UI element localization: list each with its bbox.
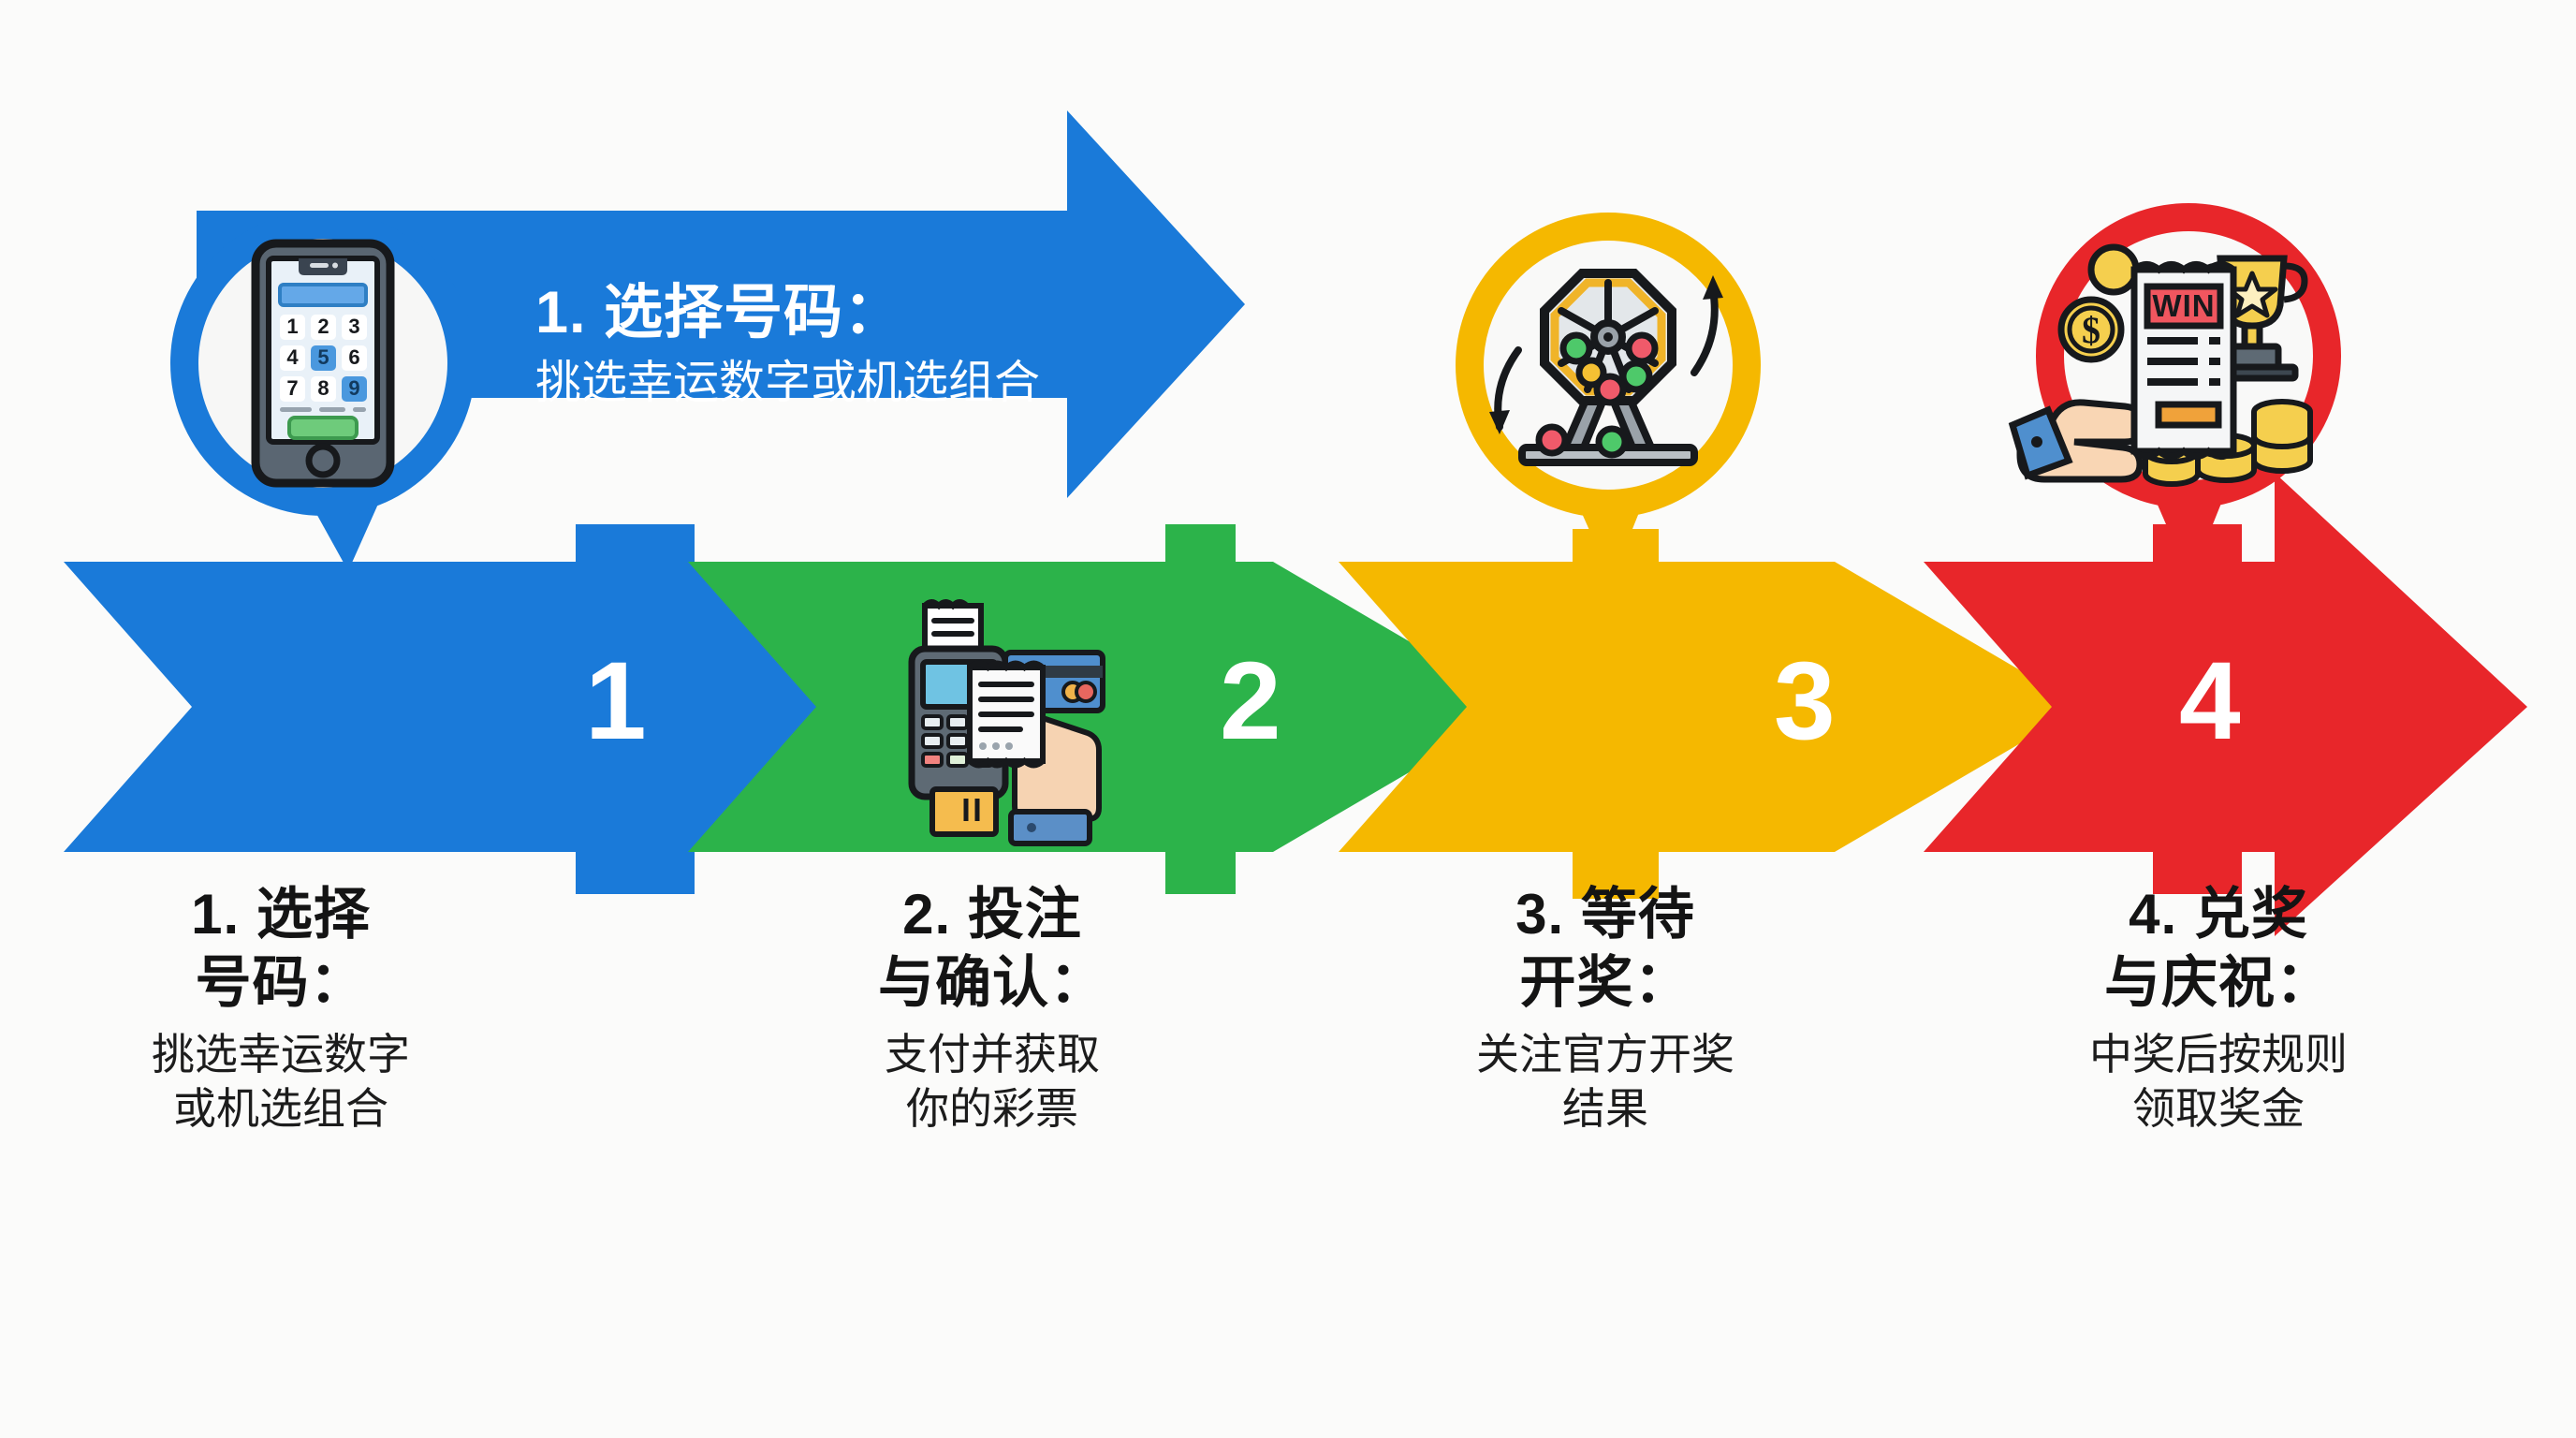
step-2-label-desc: 支付并获取 你的彩票	[749, 1028, 1236, 1136]
svg-text:2: 2	[317, 315, 329, 338]
step-4-label-desc: 中奖后按规则 领取奖金	[1966, 1028, 2471, 1136]
infographic-canvas: 1 2 3 4 5 6 7 8 9	[0, 0, 2576, 1438]
svg-text:3: 3	[348, 315, 359, 338]
step-2-label-title: 2. 投注 与确认：	[749, 880, 1236, 1017]
callout-subtitle: 挑选幸运数字或机选组合	[535, 359, 1134, 409]
svg-text:6: 6	[348, 345, 359, 369]
step-4-number: 4	[2179, 646, 2241, 756]
svg-text:5: 5	[317, 345, 329, 369]
step-1-label-title: 1. 选择 号码：	[28, 880, 534, 1017]
callout-title: 1. 选择号码：	[535, 281, 1134, 345]
step-1-number: 1	[585, 646, 647, 756]
phone-keypad-icon: 1 2 3 4 5 6 7 8 9	[256, 243, 390, 483]
step-3-label: 3. 等待 开奖： 关注官方开奖 结果	[1362, 880, 1849, 1136]
step-3-label-title: 3. 等待 开奖：	[1362, 880, 1849, 1017]
svg-text:1: 1	[286, 315, 298, 338]
callout-text: 1. 选择号码： 挑选幸运数字或机选组合	[535, 281, 1134, 409]
svg-text:4: 4	[286, 345, 299, 369]
step-1-label-desc: 挑选幸运数字 或机选组合	[28, 1028, 534, 1136]
svg-text:WIN: WIN	[2152, 288, 2215, 323]
svg-text:7: 7	[286, 376, 298, 400]
step-3-label-desc: 关注官方开奖 结果	[1362, 1028, 1849, 1136]
step-1-label: 1. 选择 号码： 挑选幸运数字 或机选组合	[28, 880, 534, 1136]
step-4-label-title: 4. 兑奖 与庆祝：	[1966, 880, 2471, 1017]
step-2-number: 2	[1220, 646, 1281, 756]
step-2-label: 2. 投注 与确认： 支付并获取 你的彩票	[749, 880, 1236, 1136]
svg-text:$: $	[2082, 309, 2100, 351]
step-4-label: 4. 兑奖 与庆祝： 中奖后按规则 领取奖金	[1966, 880, 2471, 1136]
step-3-number: 3	[1774, 646, 1836, 756]
svg-text:8: 8	[317, 376, 329, 400]
svg-text:9: 9	[348, 376, 359, 400]
